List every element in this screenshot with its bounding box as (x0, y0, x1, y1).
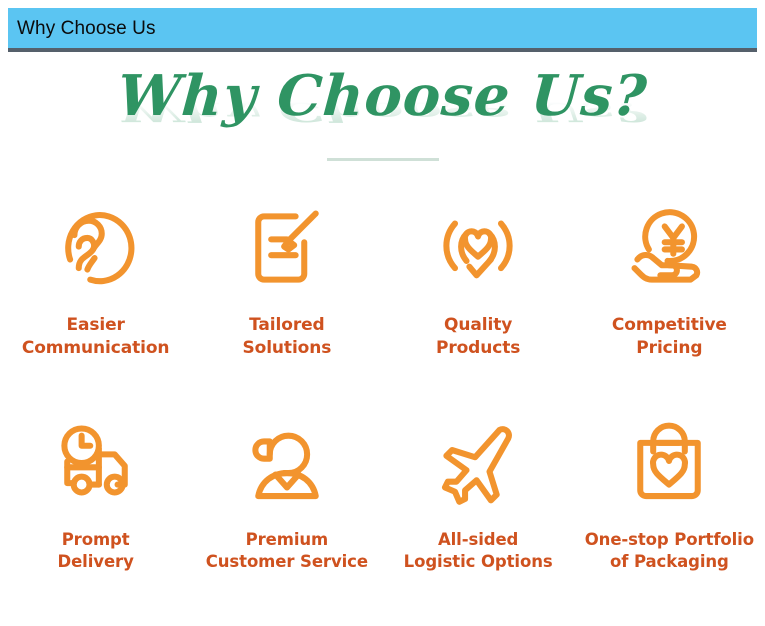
ear-in-circle-icon (46, 196, 146, 300)
title-bar: Why Choose Us (8, 8, 757, 52)
hero-title-reflection: Why Choose Us? (118, 98, 649, 125)
feature-label: One-stop Portfolio of Packaging (583, 529, 756, 574)
page-title: Why Choose Us (17, 19, 156, 38)
document-pencil-icon (237, 196, 337, 300)
feature-label: Competitive Pricing (610, 314, 729, 360)
feature-item-prompt-delivery[interactable]: Prompt Delivery (0, 411, 191, 626)
airplane-icon (428, 411, 528, 515)
feature-label: Premium Customer Service (204, 529, 370, 574)
hero-divider (327, 158, 439, 161)
feature-label: Tailored Solutions (240, 314, 333, 360)
feature-item-competitive-pricing[interactable]: Competitive Pricing (574, 196, 765, 411)
feature-label: Prompt Delivery (56, 529, 136, 574)
shopping-bag-heart-icon (619, 411, 719, 515)
feature-grid: Easier Communication Tailored Solutions (0, 196, 765, 626)
window-header: Why Choose Us (0, 0, 765, 60)
feature-label: All-sided Logistic Options (402, 529, 555, 574)
feature-label: Quality Products (434, 314, 522, 360)
feature-item-easier-communication[interactable]: Easier Communication (0, 196, 191, 411)
feature-label: Easier Communication (20, 314, 172, 360)
feature-item-premium-customer-service[interactable]: Premium Customer Service (191, 411, 382, 626)
feature-item-tailored-solutions[interactable]: Tailored Solutions (191, 196, 382, 411)
delivery-truck-clock-icon (46, 411, 146, 515)
feature-item-one-stop-portfolio-of-packaging[interactable]: One-stop Portfolio of Packaging (574, 411, 765, 626)
feature-item-all-sided-logistic-options[interactable]: All-sided Logistic Options (383, 411, 574, 626)
headset-agent-icon (237, 411, 337, 515)
feature-item-quality-products[interactable]: Quality Products (383, 196, 574, 411)
hand-holding-yen-coin-icon (619, 196, 719, 300)
hero-banner: Why Choose Us? Why Choose Us? (0, 62, 765, 180)
heart-check-signal-icon (428, 196, 528, 300)
